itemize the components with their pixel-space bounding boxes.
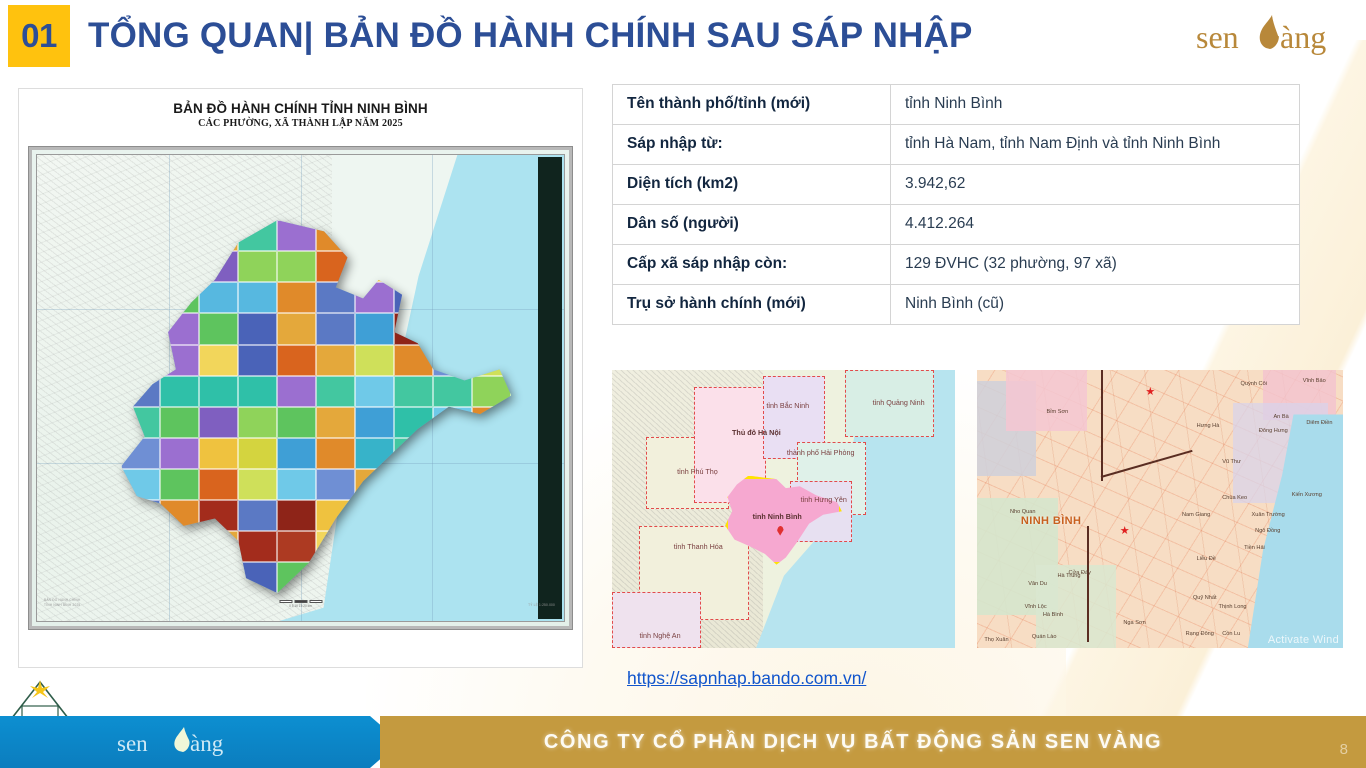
- district-cell: [199, 345, 238, 376]
- district-cell: [238, 562, 277, 593]
- road-map-label: Chùa Keo: [1222, 495, 1247, 501]
- district-cell: [121, 282, 160, 313]
- district-cell: [394, 345, 433, 376]
- detailed-road-map[interactable]: ★ ★ NINH BÌNH Quỳnh Côi Vĩnh Bảo Hưng Hà…: [977, 370, 1343, 648]
- footer-company-panel: CÔNG TY CỔ PHẦN DỊCH VỤ BẤT ĐỘNG SẢN SEN…: [380, 716, 1366, 768]
- table-row: Trụ sở hành chính (mới)Ninh Bình (cũ): [613, 284, 1300, 324]
- district-cell: [160, 376, 199, 407]
- senvang-logo-icon: sen àng: [1190, 10, 1350, 64]
- district-cell: [433, 469, 472, 500]
- district-cell: [394, 562, 433, 593]
- district-cell: [316, 313, 355, 344]
- district-cell: [160, 345, 199, 376]
- district-cell: [355, 345, 394, 376]
- district-cell: [199, 562, 238, 593]
- regional-label: tỉnh Quảng Ninh: [873, 398, 925, 407]
- road-map-label: Vân Du: [1028, 581, 1047, 587]
- table-row: Diện tích (km2)3.942,62: [613, 164, 1300, 204]
- highlight-province-label: tỉnh Ninh Bình: [753, 512, 802, 521]
- district-cell: [199, 220, 238, 251]
- district-cell: [472, 282, 511, 313]
- district-cell: [160, 500, 199, 531]
- district-cell: [160, 438, 199, 469]
- table-cell-key: Trụ sở hành chính (mới): [613, 284, 891, 324]
- district-cell: [394, 500, 433, 531]
- road-map-label: Nga Sơn: [1123, 620, 1145, 626]
- district-cell: [199, 282, 238, 313]
- district-cell: [394, 469, 433, 500]
- slide-header: 01 TỔNG QUAN| BẢN ĐỒ HÀNH CHÍNH SAU SÁP …: [0, 0, 1366, 72]
- district-cell: [160, 282, 199, 313]
- district-cell: [472, 251, 511, 282]
- district-cell: [238, 282, 277, 313]
- road-map-label: Thịnh Long: [1219, 604, 1247, 610]
- road-map-label: Quỳnh Côi: [1241, 381, 1267, 387]
- district-cell: [160, 469, 199, 500]
- district-cell: [238, 500, 277, 531]
- district-cell: [121, 407, 160, 438]
- district-cell: [316, 282, 355, 313]
- district-cell: [238, 531, 277, 562]
- district-cell: [394, 438, 433, 469]
- district-cell: [472, 531, 511, 562]
- district-cell: [433, 313, 472, 344]
- district-cell: [394, 282, 433, 313]
- district-cell: [355, 220, 394, 251]
- highway-line: [1101, 370, 1103, 481]
- district-cell: [238, 407, 277, 438]
- svg-text:àng: àng: [190, 731, 224, 756]
- district-cell: [355, 531, 394, 562]
- road-map-label: Bỉm Sơn: [1047, 409, 1069, 415]
- regional-location-map[interactable]: tỉnh Bắc Ninh tỉnh Quảng Ninh Thủ đô Hà …: [612, 370, 955, 648]
- map-subtitle: CÁC PHƯỜNG, XÃ THÀNH LẬP NĂM 2025: [19, 118, 582, 129]
- district-cell: [316, 562, 355, 593]
- district-cell: [277, 345, 316, 376]
- footer-logo-panel: sen àng: [0, 716, 400, 768]
- district-cell: [277, 376, 316, 407]
- regional-label: tỉnh Bắc Ninh: [766, 401, 809, 410]
- district-cell: [433, 376, 472, 407]
- ninh-binh-province-polygon: [121, 220, 511, 593]
- district-cell: [355, 438, 394, 469]
- table-cell-key: Dân số (người): [613, 204, 891, 244]
- road-map-label: Ngô Đồng: [1255, 528, 1280, 534]
- svg-text:sen: sen: [117, 731, 148, 756]
- district-cell: [472, 469, 511, 500]
- district-cell: [433, 531, 472, 562]
- district-cell: [160, 313, 199, 344]
- map-scale-label: 0 5 10 15 20 km: [279, 604, 322, 608]
- district-cell: [277, 438, 316, 469]
- table-cell-key: Cấp xã sáp nhập còn:: [613, 244, 891, 284]
- road-map-label: Diêm Điền: [1306, 420, 1332, 426]
- district-cell: [121, 220, 160, 251]
- road-map-label: Vĩnh Lộc: [1025, 604, 1047, 610]
- district-cell: [160, 220, 199, 251]
- district-cell: [472, 438, 511, 469]
- footer-senvang-logo-icon: sen àng: [113, 724, 263, 760]
- district-cell: [160, 562, 199, 593]
- slide-root: 01 TỔNG QUAN| BẢN ĐỒ HÀNH CHÍNH SAU SÁP …: [0, 0, 1366, 768]
- district-cell: [355, 562, 394, 593]
- district-cell: [316, 500, 355, 531]
- district-cell: [121, 438, 160, 469]
- district-cell: [433, 251, 472, 282]
- page-number: 8: [1340, 741, 1348, 758]
- road-map-label: Kiến Xương: [1292, 492, 1322, 498]
- table-row: Cấp xã sáp nhập còn:129 ĐVHC (32 phường,…: [613, 244, 1300, 284]
- administrative-map-card: BẢN ĐỒ HÀNH CHÍNH TỈNH NINH BÌNH CÁC PHƯ…: [18, 88, 583, 668]
- district-cell: [355, 282, 394, 313]
- district-cell: [121, 531, 160, 562]
- map-title: BẢN ĐỒ HÀNH CHÍNH TỈNH NINH BÌNH: [19, 101, 582, 116]
- district-cell: [238, 469, 277, 500]
- district-cell: [472, 376, 511, 407]
- district-cell: [277, 313, 316, 344]
- table-row: Dân số (người)4.412.264: [613, 204, 1300, 244]
- district-cell: [238, 220, 277, 251]
- district-cell: [121, 345, 160, 376]
- svg-text:àng: àng: [1280, 19, 1326, 55]
- district-cell: [316, 469, 355, 500]
- district-cell: [394, 251, 433, 282]
- district-cell: [277, 251, 316, 282]
- district-cell: [277, 220, 316, 251]
- district-cell: [160, 407, 199, 438]
- road-map-label: An Bà: [1273, 414, 1288, 420]
- road-map-label: Cửa Đáy: [1069, 570, 1091, 576]
- district-cell: [121, 251, 160, 282]
- table-cell-value: 3.942,62: [891, 164, 1300, 204]
- regional-label: tỉnh Thanh Hóa: [674, 542, 723, 551]
- district-cell: [160, 251, 199, 282]
- table-row: Tên thành phố/tỉnh (mới)tỉnh Ninh Bình: [613, 85, 1300, 125]
- road-map-label: Hà Bình: [1043, 612, 1063, 618]
- district-mosaic: [121, 220, 511, 593]
- district-cell: [277, 407, 316, 438]
- district-cell: [472, 313, 511, 344]
- road-map-label: Đông Hưng: [1259, 428, 1288, 434]
- district-cell: [277, 531, 316, 562]
- road-map-label: Thọ Xuân: [984, 637, 1008, 643]
- svg-text:sen: sen: [1196, 19, 1239, 55]
- district-cell: [121, 469, 160, 500]
- district-cell: [238, 313, 277, 344]
- road-map-watermark: Activate Wind: [1268, 634, 1339, 646]
- district-cell: [355, 500, 394, 531]
- district-cell: [355, 407, 394, 438]
- map-canvas: [36, 154, 565, 622]
- district-cell: [316, 376, 355, 407]
- district-cell: [394, 376, 433, 407]
- district-cell: [472, 407, 511, 438]
- section-number-badge: 01: [8, 5, 70, 67]
- table-cell-value: 129 ĐVHC (32 phường, 97 xã): [891, 244, 1300, 284]
- district-cell: [433, 220, 472, 251]
- regional-label: tỉnh Nghệ An: [639, 631, 680, 640]
- table-row: Sáp nhập từ:tỉnh Hà Nam, tỉnh Nam Định v…: [613, 124, 1300, 164]
- table-cell-key: Diện tích (km2): [613, 164, 891, 204]
- district-cell: [355, 376, 394, 407]
- map-legend-row: BẢN ĐỒ HÀNH CHÍNH TỈNH NINH BÌNH 2025 0 …: [32, 594, 569, 620]
- district-cell: [472, 500, 511, 531]
- district-cell: [121, 562, 160, 593]
- map-frame: BẢN ĐỒ HÀNH CHÍNH TỈNH NINH BÌNH 2025 0 …: [29, 147, 572, 629]
- road-map-label: Quán Lào: [1032, 634, 1057, 640]
- district-cell: [316, 251, 355, 282]
- road-map-label: Xuân Trường: [1252, 512, 1285, 518]
- district-cell: [199, 313, 238, 344]
- map-caption-left: BẢN ĐỒ HÀNH CHÍNH TỈNH NINH BÌNH 2025: [44, 598, 81, 608]
- district-cell: [121, 500, 160, 531]
- source-url-link[interactable]: https://sapnhap.bando.com.vn/: [627, 668, 866, 689]
- district-cell: [472, 220, 511, 251]
- province-info-table: Tên thành phố/tỉnh (mới)tỉnh Ninh BìnhSá…: [612, 84, 1300, 325]
- regional-label: Thủ đô Hà Nội: [732, 428, 781, 437]
- capital-star-icon: ★: [1145, 387, 1155, 398]
- highway-line: [1087, 526, 1089, 643]
- district-cell: [316, 345, 355, 376]
- road-map-label: Tiền Hải: [1244, 545, 1265, 551]
- district-cell: [316, 438, 355, 469]
- district-cell: [199, 376, 238, 407]
- road-map-label: Vũ Thư: [1222, 459, 1241, 465]
- district-cell: [121, 376, 160, 407]
- footer-company-name: CÔNG TY CỔ PHẦN DỊCH VỤ BẤT ĐỘNG SẢN SEN…: [544, 731, 1162, 754]
- district-cell: [472, 345, 511, 376]
- table-cell-value: tỉnh Hà Nam, tỉnh Nam Định và tỉnh Ninh …: [891, 124, 1300, 164]
- regional-label: tỉnh Phú Thọ: [677, 467, 718, 476]
- road-map-label: Liễu Đề: [1197, 556, 1216, 562]
- district-cell: [355, 469, 394, 500]
- map-scale-bar: 0 5 10 15 20 km: [279, 600, 322, 608]
- district-cell: [394, 407, 433, 438]
- district-cell: [277, 282, 316, 313]
- district-cell: [472, 562, 511, 593]
- regional-label: tỉnh Hưng Yên: [801, 495, 847, 504]
- district-cell: [277, 562, 316, 593]
- district-cell: [199, 500, 238, 531]
- table-cell-key: Sáp nhập từ:: [613, 124, 891, 164]
- road-map-label: Nho Quan: [1010, 509, 1036, 515]
- district-cell: [277, 469, 316, 500]
- table-cell-value: 4.412.264: [891, 204, 1300, 244]
- district-cell: [316, 220, 355, 251]
- district-cell: [238, 376, 277, 407]
- district-cell: [433, 345, 472, 376]
- road-map-label: Hưng Hà: [1197, 423, 1220, 429]
- district-cell: [199, 531, 238, 562]
- capital-star-icon: ★: [1120, 526, 1130, 537]
- road-map-label: Nam Giang: [1182, 512, 1210, 518]
- district-cell: [199, 438, 238, 469]
- district-cell: [394, 531, 433, 562]
- district-cell: [316, 531, 355, 562]
- district-cell: [433, 407, 472, 438]
- district-cell: [160, 531, 199, 562]
- map-edge-band: [538, 157, 562, 619]
- district-cell: [238, 438, 277, 469]
- district-cell: [238, 345, 277, 376]
- table-cell-value: Ninh Bình (cũ): [891, 284, 1300, 324]
- district-cell: [277, 500, 316, 531]
- road-map-region-pink: [1006, 370, 1087, 431]
- district-cell: [394, 220, 433, 251]
- district-cell: [199, 407, 238, 438]
- road-map-label: Vĩnh Bảo: [1303, 378, 1326, 384]
- slide-footer: sen àng CÔNG TY CỔ PHẦN DỊCH VỤ BẤT ĐỘNG…: [0, 716, 1366, 768]
- district-cell: [238, 251, 277, 282]
- table-cell-key: Tên thành phố/tỉnh (mới): [613, 85, 891, 125]
- district-cell: [433, 438, 472, 469]
- district-cell: [121, 313, 160, 344]
- district-cell: [355, 313, 394, 344]
- district-cell: [433, 500, 472, 531]
- table-cell-value: tỉnh Ninh Bình: [891, 85, 1300, 125]
- map-caption-right: TỶ LỆ 1:250.000: [528, 603, 555, 608]
- road-map-label: Cồn Lu: [1222, 631, 1240, 637]
- district-cell: [199, 251, 238, 282]
- district-cell: [394, 313, 433, 344]
- district-cell: [433, 282, 472, 313]
- district-cell: [355, 251, 394, 282]
- road-map-label: Rạng Đông: [1186, 631, 1214, 637]
- road-map-label: Quỹ Nhất: [1193, 595, 1217, 601]
- road-map-main-label: NINH BÌNH: [1021, 515, 1081, 527]
- district-cell: [433, 562, 472, 593]
- district-cell: [199, 469, 238, 500]
- district-cell: [316, 407, 355, 438]
- regional-label: thành phố Hải Phòng: [787, 448, 855, 457]
- page-title: TỔNG QUAN| BẢN ĐỒ HÀNH CHÍNH SAU SÁP NHẬ…: [88, 16, 973, 56]
